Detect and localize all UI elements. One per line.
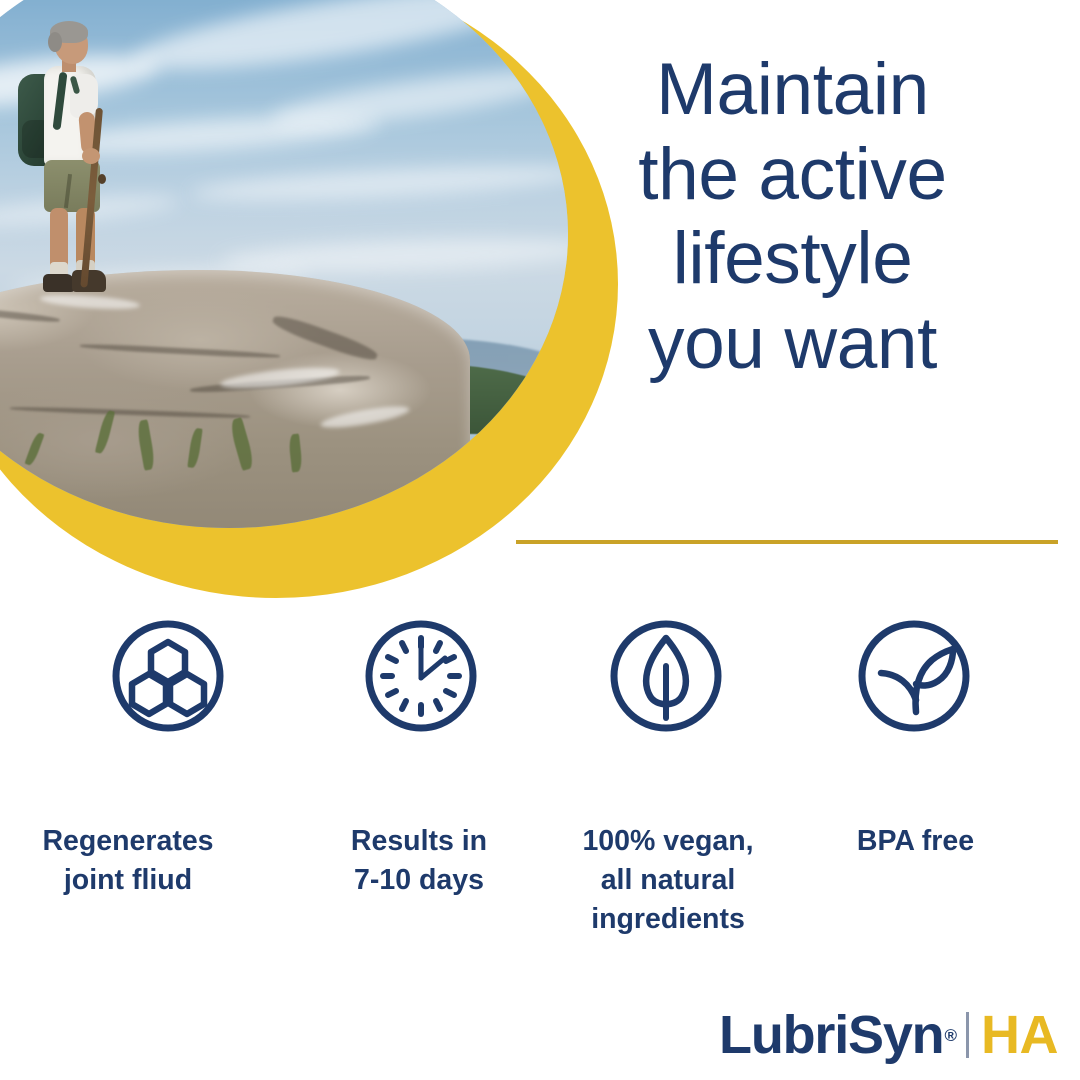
leg	[50, 208, 68, 270]
walking-stick-knot	[98, 174, 106, 184]
feature-label-line: ingredients	[591, 903, 745, 935]
hand	[82, 148, 100, 164]
brand-logo[interactable]: LubriSyn ® HA	[719, 1008, 1058, 1062]
feature-label-line: Results in	[351, 825, 487, 857]
feature-label-line: 100% vegan,	[582, 825, 753, 857]
hiker-figure	[10, 24, 140, 300]
registered-trademark-icon: ®	[944, 1027, 957, 1044]
gold-divider-rule	[516, 540, 1058, 544]
hiking-boot	[43, 274, 75, 292]
headline: Maintain the active lifestyle you want	[520, 48, 1065, 387]
icon-container	[292, 612, 542, 740]
headline-line-3: lifestyle	[520, 217, 1065, 302]
feature-item: BPA free	[792, 612, 1045, 938]
logo-suffix: HA	[981, 1008, 1058, 1062]
hiking-boot	[72, 270, 106, 292]
feature-label-line: 7-10 days	[354, 864, 484, 896]
molecule-hexagons-icon	[108, 616, 228, 736]
hiker-photo	[0, 0, 568, 528]
feature-label-line: all natural	[601, 864, 736, 896]
feature-item: 100% vegan, all natural ingredients	[542, 612, 792, 938]
feature-label-line: joint fliud	[64, 864, 192, 896]
headline-line-2: the active	[520, 133, 1065, 218]
sprout-icon	[854, 616, 974, 736]
icon-container	[542, 612, 792, 740]
feature-item: Results in 7-10 days	[292, 612, 542, 938]
icon-container	[0, 612, 292, 740]
headline-line-1: Maintain	[520, 48, 1065, 133]
advertisement-canvas: Maintain the active lifestyle you want R…	[0, 0, 1080, 1080]
feature-label-line: BPA free	[857, 825, 974, 857]
feature-list: Regenerates joint fliud	[0, 612, 1045, 938]
feature-label: 100% vegan, all natural ingredients	[542, 822, 792, 938]
feature-label: Results in 7-10 days	[292, 822, 542, 900]
icon-container	[792, 612, 1045, 740]
headline-line-4: you want	[520, 302, 1065, 387]
hair	[48, 32, 62, 52]
logo-divider	[966, 1012, 969, 1058]
logo-wordmark: LubriSyn	[719, 1008, 943, 1062]
rock-outcrop	[0, 270, 470, 528]
leaf-icon	[606, 616, 726, 736]
clock-icon	[361, 616, 481, 736]
feature-label: Regenerates joint fliud	[0, 822, 292, 900]
feature-item: Regenerates joint fliud	[0, 612, 292, 938]
feature-label: BPA free	[792, 822, 1045, 861]
feature-label-line: Regenerates	[42, 825, 213, 857]
